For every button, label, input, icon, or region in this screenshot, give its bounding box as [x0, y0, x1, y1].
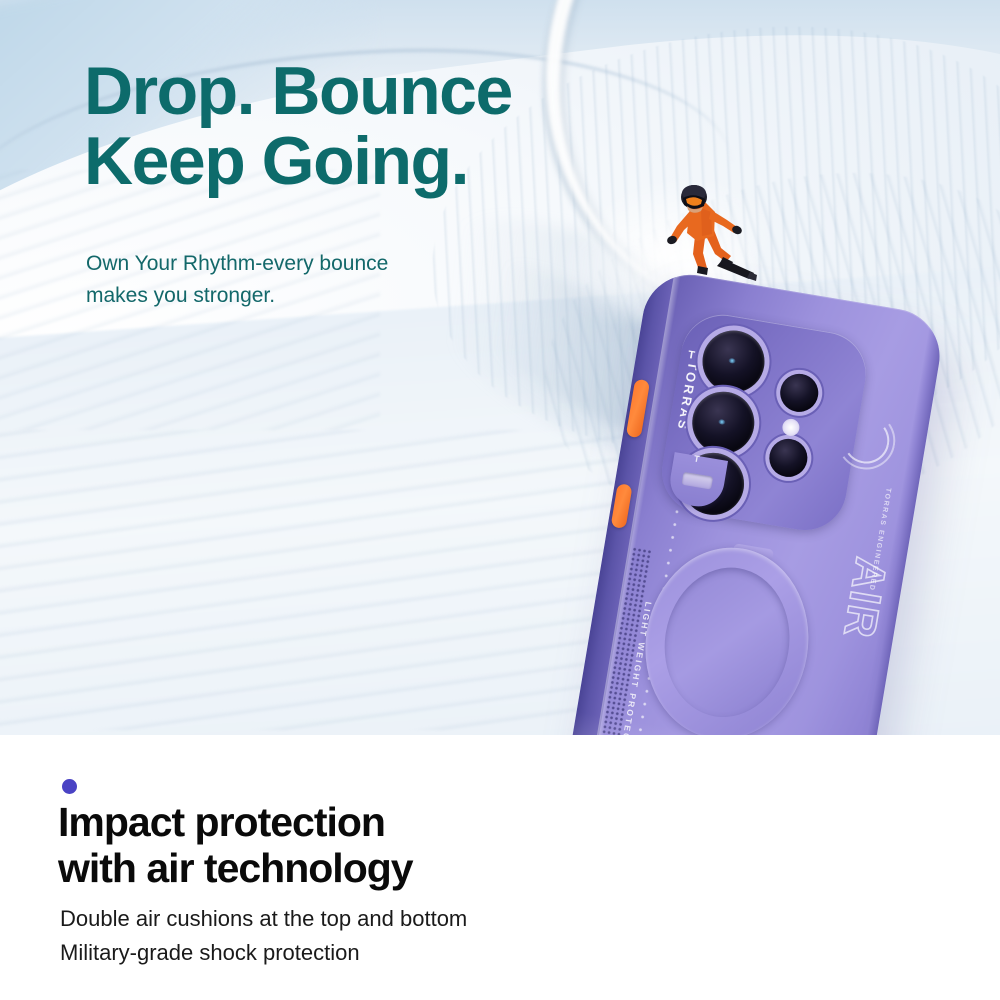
camera-lens-aux-top [777, 371, 821, 415]
feature-body-text: Double air cushions at the top and botto… [60, 902, 467, 970]
magsafe-ring-kickstand[interactable] [631, 535, 822, 751]
camera-flash-icon [781, 418, 801, 438]
product-marketing-banner: Drop. Bounce Keep Going. Own Your Rhythm… [0, 0, 1000, 1000]
camera-lens-main [698, 326, 769, 397]
camera-lens-wide [688, 387, 759, 458]
bullet-dot-icon [62, 779, 77, 794]
ring-inner [654, 558, 801, 726]
torras-t-logo-icon: T [687, 349, 696, 362]
camera-lens-aux-bottom [766, 436, 810, 480]
hero-subheadline: Own Your Rhythm-every bounce makes you s… [86, 248, 388, 312]
feature-panel: Impact protection with air technology Do… [0, 735, 1000, 1000]
ring-tab-logo-icon: T [693, 453, 700, 464]
hero-headline: Drop. Bounce Keep Going. [84, 56, 512, 196]
lens-glint [718, 419, 726, 425]
feature-title: Impact protection with air technology [58, 800, 413, 892]
lens-glint [728, 358, 736, 364]
ring-outer [631, 535, 822, 751]
